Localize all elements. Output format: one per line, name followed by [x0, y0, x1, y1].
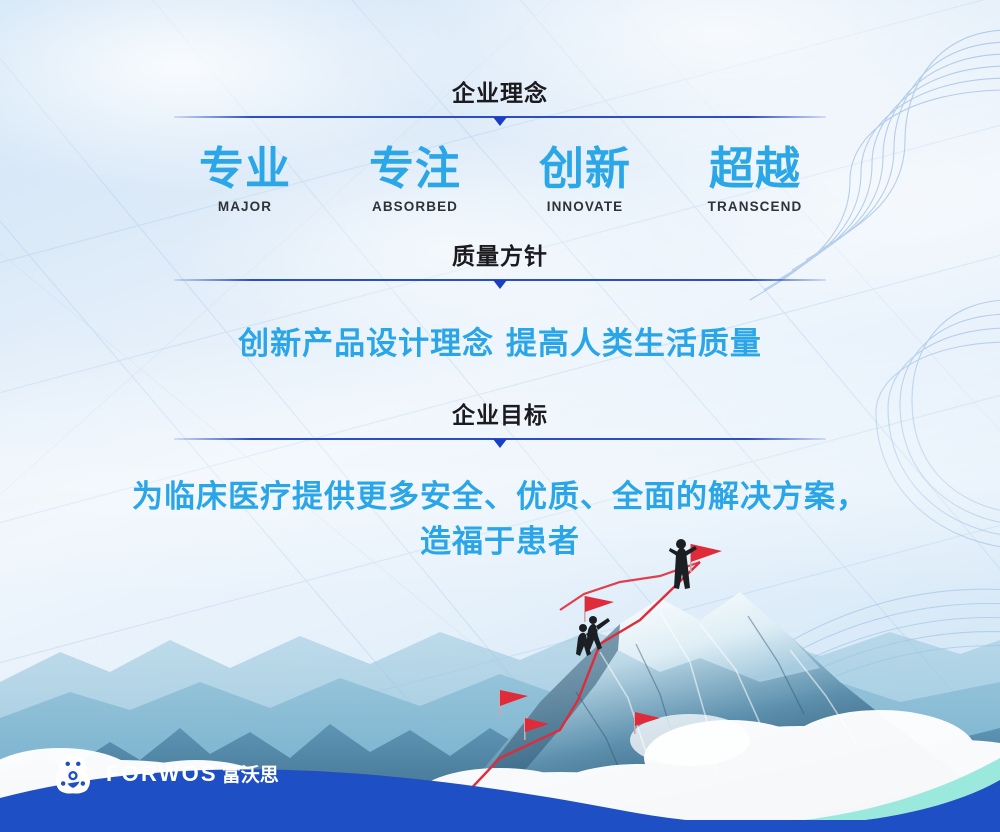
concept-item-innovate: 创新 INNOVATE	[510, 145, 660, 214]
section-quality-policy: 质量方针 创新产品设计理念 提高人类生活质量	[0, 245, 1000, 363]
section-enterprise-goal: 企业目标 为临床医疗提供更多安全、优质、全面的解决方案， 造福于患者	[0, 404, 1000, 565]
section-title-philosophy: 企业理念	[0, 82, 1000, 105]
poster-canvas: FORWOS 富沃思 企业理念 专业 MAJOR 专注 ABSORBED	[0, 0, 1000, 832]
goal-line-2: 造福于患者	[0, 520, 1000, 565]
chevron-down-icon	[493, 439, 507, 448]
concept-en-label: MAJOR	[170, 199, 320, 214]
climber-pair	[576, 616, 610, 656]
section-divider-philosophy	[174, 115, 826, 127]
concept-list: 专业 MAJOR 专注 ABSORBED 创新 INNOVATE 超越 TRAN…	[170, 145, 830, 214]
concept-item-absorbed: 专注 ABSORBED	[340, 145, 490, 214]
concept-item-transcend: 超越 TRANSCEND	[680, 145, 830, 214]
flag-2	[584, 596, 614, 622]
brand-name-latin: FORWOS	[106, 761, 218, 787]
forwos-pinwheel-icon	[52, 752, 94, 794]
enterprise-goal-statement: 为临床医疗提供更多安全、优质、全面的解决方案， 造福于患者	[0, 475, 1000, 565]
section-title-quality-policy: 质量方针	[0, 245, 1000, 268]
concept-cn-label: 创新	[510, 145, 660, 192]
concept-item-major: 专业 MAJOR	[170, 145, 320, 214]
brand-logo[interactable]: FORWOS 富沃思	[52, 752, 279, 794]
concept-cn-label: 超越	[680, 145, 830, 192]
section-title-enterprise-goal: 企业目标	[0, 404, 1000, 427]
concept-cn-label: 专注	[340, 145, 490, 192]
concept-en-label: TRANSCEND	[680, 199, 830, 214]
section-divider-quality-policy	[174, 278, 826, 290]
section-divider-enterprise-goal	[174, 437, 826, 449]
concept-en-label: ABSORBED	[340, 199, 490, 214]
section-philosophy: 企业理念 专业 MAJOR 专注 ABSORBED 创新 INNOVATE	[0, 82, 1000, 214]
brand-name-chinese: 富沃思	[222, 760, 279, 787]
concept-en-label: INNOVATE	[510, 199, 660, 214]
goal-line-1: 为临床医疗提供更多安全、优质、全面的解决方案，	[132, 479, 868, 515]
chevron-down-icon	[493, 117, 507, 126]
concept-cn-label: 专业	[170, 145, 320, 192]
quality-policy-statement: 创新产品设计理念 提高人类生活质量	[0, 318, 1000, 363]
chevron-down-icon	[493, 280, 507, 289]
